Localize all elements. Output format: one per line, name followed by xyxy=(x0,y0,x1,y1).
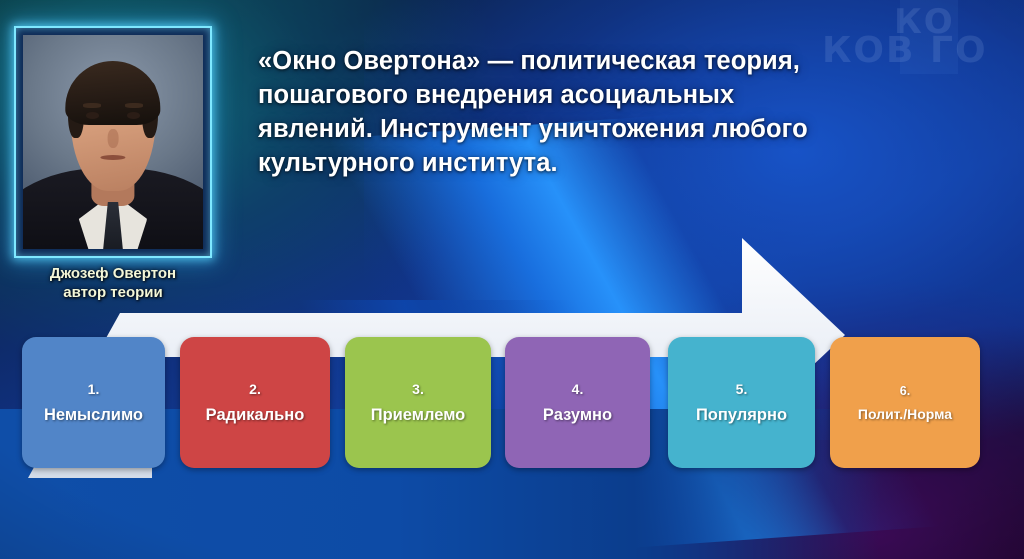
overton-step-label: Немыслимо xyxy=(44,406,143,425)
overton-step-2[interactable]: 2.Радикально xyxy=(180,337,330,468)
overton-step-label: Приемлемо xyxy=(371,406,466,425)
overton-step-3[interactable]: 3.Приемлемо xyxy=(345,337,491,468)
overton-step-number: 1. xyxy=(88,381,100,397)
joseph-overton-portrait xyxy=(23,35,203,249)
overton-step-number: 5. xyxy=(736,381,748,397)
portrait-eye-left xyxy=(86,112,99,119)
portrait-nose xyxy=(108,129,119,148)
overton-step-number: 4. xyxy=(572,381,584,397)
portrait-eyebrow-left xyxy=(83,103,101,107)
headline-text: «Окно Овертона» — политическая теория, п… xyxy=(258,44,828,180)
overton-window-slide: КО КОВ ГО Джо xyxy=(0,0,1024,559)
overton-step-number: 6. xyxy=(900,384,910,398)
overton-step-6[interactable]: 6.Полит./Норма xyxy=(830,337,980,468)
overton-step-5[interactable]: 5.Популярно xyxy=(668,337,815,468)
overton-step-number: 2. xyxy=(249,381,261,397)
portrait-eye-right xyxy=(127,112,140,119)
overton-step-label: Разумно xyxy=(543,406,612,425)
overton-step-4[interactable]: 4.Разумно xyxy=(505,337,650,468)
overton-step-number: 3. xyxy=(412,381,424,397)
portrait-glow-frame xyxy=(14,26,212,258)
overton-step-label: Популярно xyxy=(696,406,787,425)
overton-step-label: Радикально xyxy=(206,406,305,425)
portrait-eyebrow-right xyxy=(125,103,143,107)
portrait-frame-container xyxy=(14,26,212,258)
overton-step-1[interactable]: 1.Немыслимо xyxy=(22,337,165,468)
overton-step-label: Полит./Норма xyxy=(858,406,952,422)
